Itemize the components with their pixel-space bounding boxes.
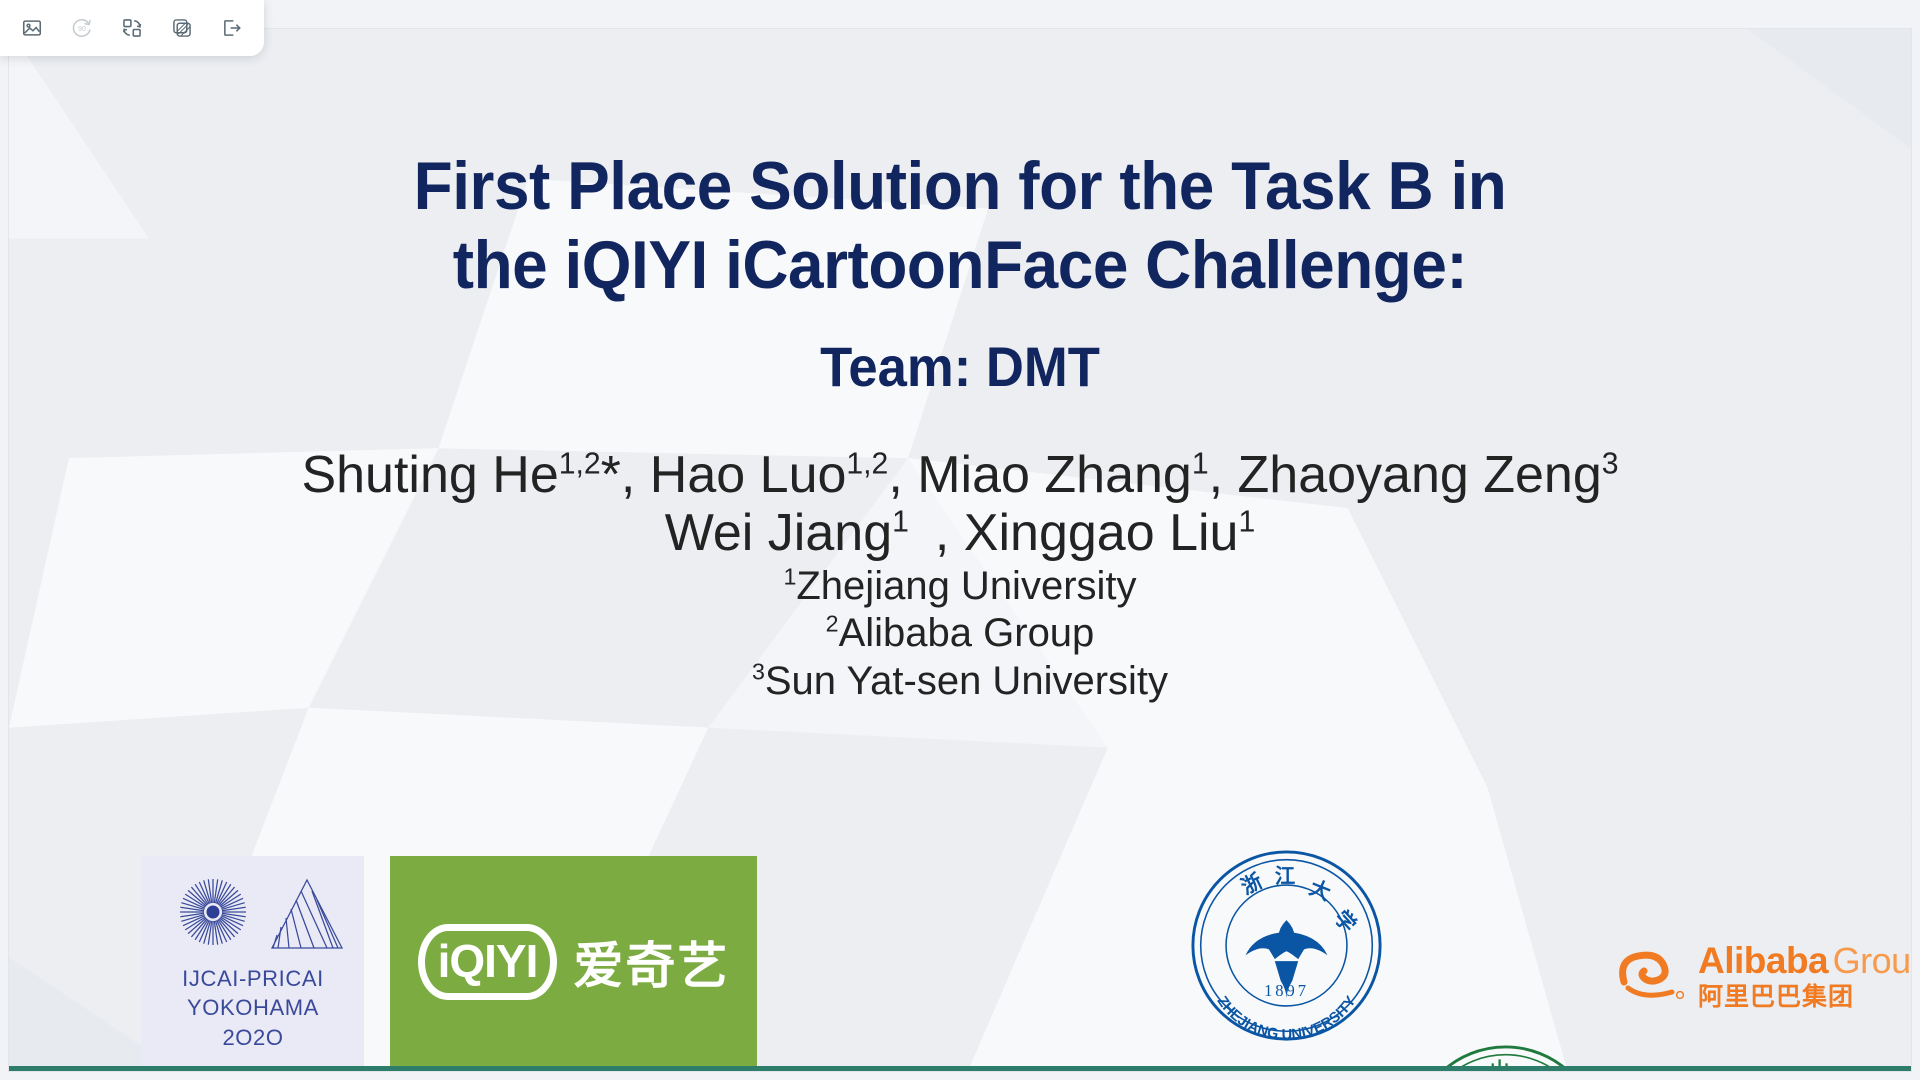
authors-block: Shuting He1,2*, Hao Luo1,2, Miao Zhang1,… — [301, 446, 1618, 705]
image-icon[interactable] — [8, 6, 56, 50]
affiliation-marker: 1,2 — [846, 447, 888, 480]
export-icon[interactable] — [208, 6, 256, 50]
ijcai-logo-line-2: YOKOHAMA — [182, 993, 324, 1022]
slide-title-line-1: First Place Solution for the Task B in — [66, 147, 1854, 226]
alibaba-group-logo: Alibaba Group 阿里巴巴集团 — [1616, 942, 1912, 1009]
svg-text:大: 大 — [1306, 875, 1334, 905]
alibaba-wordmark: Alibaba Group 阿里巴巴集团 — [1698, 942, 1912, 1009]
affiliation-marker: 2 — [826, 611, 839, 637]
slide-title-line-2: the iQIYI iCartoonFace Challenge: — [66, 226, 1854, 305]
logo-row: IJCAI-PRICAI YOKOHAMA 2O2O iQIYI 爱奇艺 — [9, 856, 1911, 1071]
affiliation-marker: 1 — [1238, 506, 1255, 539]
affiliation-marker: 1 — [1192, 447, 1209, 480]
affiliation-marker: 1,2 — [559, 447, 601, 480]
slide-viewer: First Place Solution for the Task B in t… — [0, 0, 1920, 1080]
image-toolbar: 90 — [0, 0, 264, 56]
zju-year: 1897 — [1264, 981, 1309, 1000]
slide-surface: First Place Solution for the Task B in t… — [8, 28, 1912, 1072]
affiliation-marker: 1 — [892, 506, 909, 539]
iqiyi-wordmark: iQIYI — [418, 924, 558, 1000]
alibaba-smile-icon — [1616, 948, 1688, 1004]
iqiyi-logo: iQIYI 爱奇艺 — [390, 856, 757, 1068]
author-line: Wei Jiang1 , Xinggao Liu1 — [301, 504, 1618, 563]
zhejiang-university-seal: 浙 江 大 学 1897 ZHEJIANG UNIVERSITY — [1189, 848, 1384, 1043]
affiliation-line: 3Sun Yat-sen University — [301, 658, 1618, 705]
alibaba-chinese-name: 阿里巴巴集团 — [1698, 984, 1912, 1009]
author-line: Shuting He1,2*, Hao Luo1,2, Miao Zhang1,… — [301, 446, 1618, 505]
svg-text:学: 学 — [1330, 905, 1362, 936]
ijcai-sunburst-fuji-icon — [161, 872, 346, 958]
transform-icon[interactable] — [108, 6, 156, 50]
svg-text:江: 江 — [1275, 864, 1296, 888]
ijcai-logo-line-1: IJCAI-PRICAI — [182, 964, 324, 993]
layers-icon[interactable] — [158, 6, 206, 50]
alibaba-bold-word: Alibaba — [1698, 940, 1828, 981]
affiliation-line: 1Zhejiang University — [301, 563, 1618, 610]
svg-text:90: 90 — [78, 26, 86, 33]
affiliation-line: 2Alibaba Group — [301, 610, 1618, 657]
affiliation-marker: 3 — [752, 658, 765, 684]
ijcai-pricai-logo: IJCAI-PRICAI YOKOHAMA 2O2O — [142, 856, 364, 1068]
ijcai-logo-line-3: 2O2O — [182, 1023, 324, 1052]
svg-text:ZHEJIANG UNIVERSITY: ZHEJIANG UNIVERSITY — [1214, 993, 1360, 1043]
alibaba-light-word: Group — [1833, 940, 1912, 981]
bottom-accent-bar — [9, 1066, 1911, 1071]
title-block: First Place Solution for the Task B in t… — [9, 147, 1911, 400]
affiliation-marker: 1 — [783, 564, 796, 590]
affiliation-marker: 3 — [1602, 447, 1619, 480]
rotate-90-icon[interactable]: 90 — [58, 6, 106, 50]
iqiyi-chinese-name: 爱奇艺 — [573, 926, 729, 998]
ijcai-logo-text: IJCAI-PRICAI YOKOHAMA 2O2O — [182, 964, 324, 1052]
slide-subtitle-team: Team: DMT — [66, 335, 1854, 400]
